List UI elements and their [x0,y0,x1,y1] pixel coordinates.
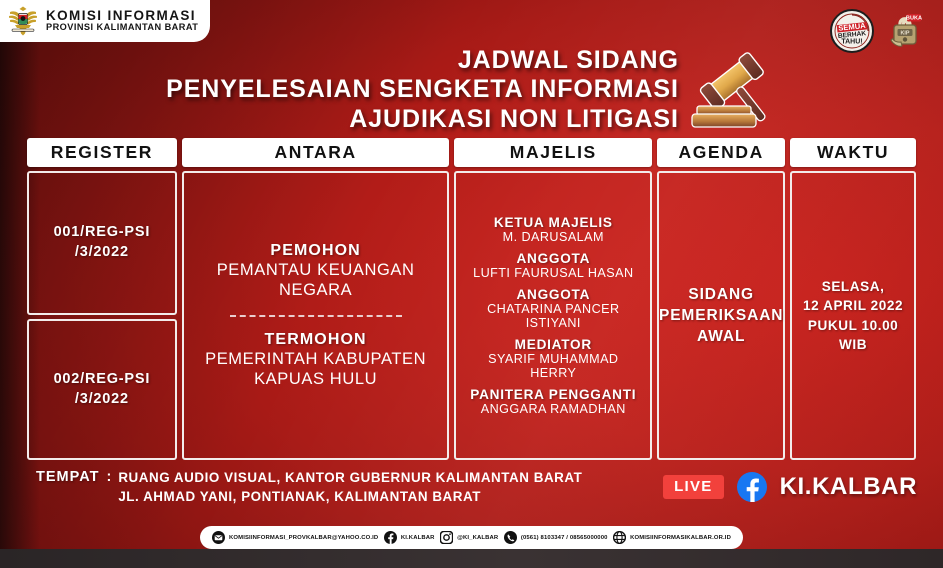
column-antara: ANTARA PEMOHON PEMANTAU KEUANGAN NEGARA … [182,138,450,460]
majelis-name: CHATARINA PANCER ISTIYANI [464,302,642,330]
schedule-table: REGISTER 001/REG-PSI /3/2022 002/REG-PSI… [27,138,916,460]
facebook-handle: KI.KALBAR [780,473,917,501]
waktu-cell: SELASA, 12 APRIL 2022 PUKUL 10.00 WIB [790,171,916,460]
logo-line-1: KOMISI INFORMASI [46,9,198,23]
contact-website[interactable]: KOMISIINFORMASIKALBAR.OR.ID [613,531,731,544]
poster-canvas: KOMISI INFORMASI PROVINSI KALIMANTAN BAR… [0,0,943,568]
logo-line-2: PROVINSI KALIMANTAN BARAT [46,23,198,32]
contact-instagram[interactable]: @KI_KALBAR [440,531,498,544]
contact-email[interactable]: KOMISIINFORMASI_PROVKALBAR@YAHOO.CO.ID [212,531,378,544]
pemohon-role: PEMOHON [270,242,360,260]
waktu-line-1: SELASA, [822,277,885,296]
majelis-role: ANGGOTA [464,287,642,302]
register-2-line-2: /3/2022 [75,390,129,410]
contact-instagram-text: @KI_KALBAR [457,535,498,541]
venue-label: TEMPAT [36,468,99,485]
majelis-role: KETUA MAJELIS [494,215,613,230]
antara-cell: PEMOHON PEMANTAU KEUANGAN NEGARA TERMOHO… [182,171,450,460]
column-header-agenda: AGENDA [657,138,785,167]
majelis-name: M. DARUSALAM [494,230,613,244]
majelis-name: LUFTI FAURUSAL HASAN [473,266,633,280]
poster-title-block: JADWAL SIDANG PENYELESAIAN SENGKETA INFO… [0,44,943,136]
waktu-line-2: 12 APRIL 2022 [803,296,903,315]
register-cell-2: 002/REG-PSI /3/2022 [27,319,177,460]
live-stream-block: LIVE KI.KALBAR [663,472,917,502]
column-register: REGISTER 001/REG-PSI /3/2022 002/REG-PSI… [27,138,177,460]
svg-text:TAHU!: TAHU! [841,39,862,46]
contact-facebook[interactable]: KI.KALBAR [384,531,435,544]
campaign-badges: SEMUA BERHAK TAHU! KIP BUKA [829,8,929,54]
title-line-3: AJUDIKASI NON LITIGASI [166,105,679,134]
contact-email-text: KOMISIINFORMASI_PROVKALBAR@YAHOO.CO.ID [229,535,378,541]
majelis-role: PANITERA PENGGANTI [470,387,636,402]
title-line-2: PENYELESAIAN SENGKETA INFORMASI [166,75,679,104]
facebook-icon[interactable] [737,472,767,502]
majelis-cell: KETUA MAJELIS M. DARUSALAM ANGGOTA LUFTI… [454,171,652,460]
instagram-icon [440,531,453,544]
register-1-line-2: /3/2022 [75,243,129,263]
majelis-member: KETUA MAJELIS M. DARUSALAM [494,215,613,244]
column-majelis: MAJELIS KETUA MAJELIS M. DARUSALAM ANGGO… [454,138,652,460]
semua-berhak-tahu-badge-icon: SEMUA BERHAK TAHU! [829,8,875,54]
svg-text:KIP: KIP [901,31,910,37]
majelis-member: ANGGOTA LUFTI FAURUSAL HASAN [473,251,633,280]
termohon-role: TERMOHON [265,331,367,349]
title-line-1: JADWAL SIDANG [166,46,679,75]
venue-line-1: RUANG AUDIO VISUAL, KANTOR GUBERNUR KALI… [118,468,582,487]
column-header-majelis: MAJELIS [454,138,652,167]
column-waktu: WAKTU SELASA, 12 APRIL 2022 PUKUL 10.00 … [790,138,916,460]
poster-title-text: JADWAL SIDANG PENYELESAIAN SENGKETA INFO… [166,46,687,134]
column-header-waktu: WAKTU [790,138,916,167]
majelis-member: PANITERA PENGGANTI ANGGARA RAMADHAN [470,387,636,416]
contact-facebook-text: KI.KALBAR [401,535,435,541]
party-divider [230,315,402,317]
contact-phone[interactable]: (0561) 8103347 / 08565000000 [504,531,608,544]
register-1-line-1: 001/REG-PSI [54,223,151,243]
majelis-name: SYARIF MUHAMMAD HERRY [464,352,642,380]
register-2-line-1: 002/REG-PSI [54,370,151,390]
agenda-line-3: AWAL [697,326,745,347]
email-icon [212,531,225,544]
termohon-name-line-1: PEMERINTAH KABUPATEN [205,349,426,369]
pemohon-name-line-2: NEGARA [279,280,352,300]
pemohon-name-line-1: PEMANTAU KEUANGAN [217,260,415,280]
organization-logo-plate: KOMISI INFORMASI PROVINSI KALIMANTAN BAR… [0,0,210,42]
venue-line-2: JL. AHMAD YANI, PONTIANAK, KALIMANTAN BA… [118,487,582,506]
majelis-member: MEDIATOR SYARIF MUHAMMAD HERRY [464,337,642,380]
gavel-icon [691,48,777,132]
column-header-register: REGISTER [27,138,177,167]
bottom-strip [0,549,943,568]
facebook-icon [384,531,397,544]
majelis-role: ANGGOTA [473,251,633,266]
column-agenda: AGENDA SIDANG PEMERIKSAAN AWAL [657,138,785,460]
live-badge: LIVE [663,475,724,499]
majelis-member: ANGGOTA CHATARINA PANCER ISTIYANI [464,287,642,330]
agenda-cell: SIDANG PEMERIKSAAN AWAL [657,171,785,460]
register-cell-1: 001/REG-PSI /3/2022 [27,171,177,315]
majelis-role: MEDIATOR [464,337,642,352]
venue-lines: RUANG AUDIO VISUAL, KANTOR GUBERNUR KALI… [118,468,582,507]
contact-bar: KOMISIINFORMASI_PROVKALBAR@YAHOO.CO.ID K… [200,526,743,549]
logo-text-block: KOMISI INFORMASI PROVINSI KALIMANTAN BAR… [46,9,198,32]
garuda-emblem-icon [6,5,40,37]
venue-colon: : [106,468,111,485]
agenda-line-1: SIDANG [688,284,754,305]
contact-website-text: KOMISIINFORMASIKALBAR.OR.ID [630,535,731,541]
phone-icon [504,531,517,544]
venue-block: TEMPAT : RUANG AUDIO VISUAL, KANTOR GUBE… [36,468,582,507]
column-header-antara: ANTARA [182,138,450,167]
buka-gembok-informasi-badge-icon: KIP BUKA [883,8,929,54]
agenda-line-2: PEMERIKSAAN [659,305,783,326]
termohon-name-line-2: KAPUAS HULU [254,369,377,389]
globe-icon [613,531,626,544]
contact-phone-text: (0561) 8103347 / 08565000000 [521,535,608,541]
svg-text:BUKA: BUKA [906,16,922,22]
waktu-line-3: PUKUL 10.00 WIB [800,316,906,355]
majelis-name: ANGGARA RAMADHAN [470,402,636,416]
